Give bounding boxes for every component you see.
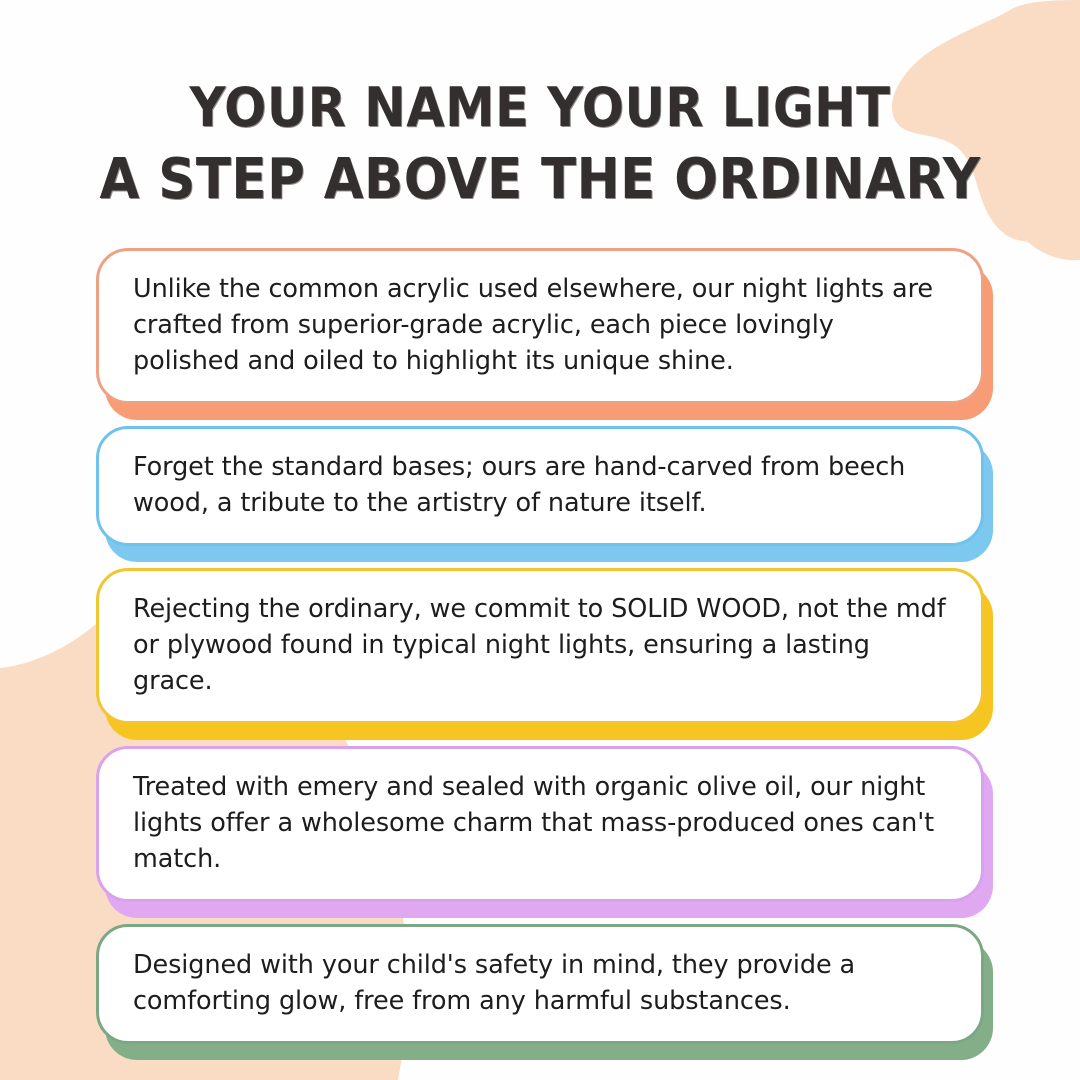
feature-card: Treated with emery and sealed with organ… [96,746,984,902]
card-text: Rejecting the ordinary, we commit to SOL… [133,591,947,699]
poster-canvas: YOUR NAME YOUR LIGHT A STEP ABOVE THE OR… [0,0,1080,1080]
card-text: Treated with emery and sealed with organ… [133,769,947,877]
feature-card: Forget the standard bases; ours are hand… [96,426,984,546]
card-text: Forget the standard bases; ours are hand… [133,449,947,521]
page-title: YOUR NAME YOUR LIGHT A STEP ABOVE THE OR… [0,72,1080,216]
title-line-1: YOUR NAME YOUR LIGHT [43,72,1037,144]
card-face[interactable]: Rejecting the ordinary, we commit to SOL… [96,568,984,724]
feature-card-list: Unlike the common acrylic used elsewhere… [0,248,1080,1044]
card-text: Unlike the common acrylic used elsewhere… [133,271,947,379]
card-face[interactable]: Designed with your child's safety in min… [96,924,984,1044]
feature-card: Rejecting the ordinary, we commit to SOL… [96,568,984,724]
feature-card: Unlike the common acrylic used elsewhere… [96,248,984,404]
card-face[interactable]: Treated with emery and sealed with organ… [96,746,984,902]
card-face[interactable]: Unlike the common acrylic used elsewhere… [96,248,984,404]
title-line-2: A STEP ABOVE THE ORDINARY [43,144,1037,216]
card-text: Designed with your child's safety in min… [133,947,947,1019]
card-face[interactable]: Forget the standard bases; ours are hand… [96,426,984,546]
feature-card: Designed with your child's safety in min… [96,924,984,1044]
